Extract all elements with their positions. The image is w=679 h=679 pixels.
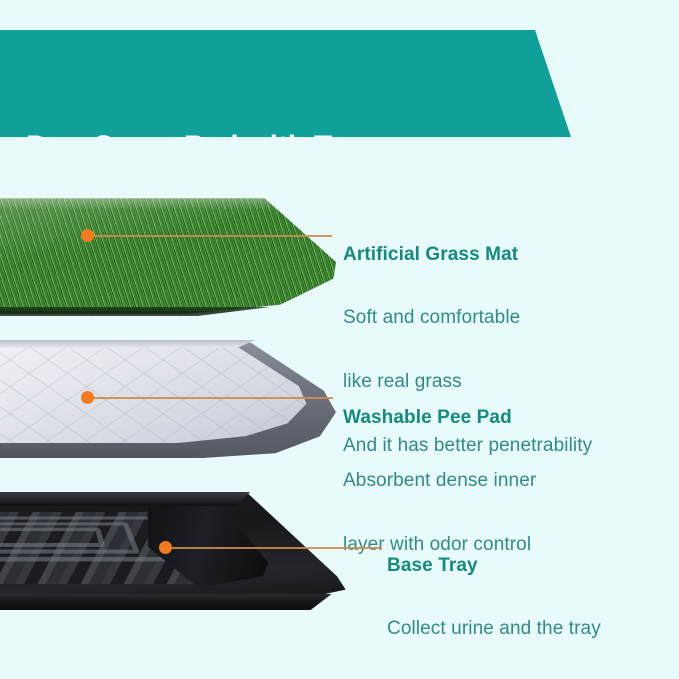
base-tray-image [0, 490, 350, 610]
grass-mat-backing [0, 307, 270, 316]
feature-title-grass-mat: Artificial Grass Mat [343, 242, 592, 268]
callout-dot-grass-mat [81, 229, 94, 242]
header-line-1: Dog Grass Pad with Tray [26, 125, 393, 168]
grass-mat-highlight [0, 196, 336, 210]
feature-label-base-tray: Base Tray Collect urine and the tray isc… [387, 517, 601, 679]
callout-line-pee-pad [92, 397, 333, 399]
feature-title-pee-pad: Washable Pee Pad [343, 405, 536, 431]
callout-line-base-tray [170, 547, 382, 549]
feature-title-base-tray: Base Tray [387, 553, 601, 579]
pee-pad-top-edge [0, 340, 256, 348]
feature-text-base-tray-1: Collect urine and the tray [387, 615, 601, 643]
callout-dot-base-tray [159, 541, 172, 554]
feature-text-pee-pad-1: Absorbent dense inner [343, 467, 536, 495]
feature-text-grass-mat-1: Soft and comfortable [343, 304, 592, 332]
callout-line-grass-mat [92, 235, 332, 237]
product-infographic: Dog Grass Pad with Tray Dog Training Goo… [0, 0, 679, 679]
base-tray-rim [0, 492, 250, 506]
base-tray-foot [0, 594, 340, 610]
header-banner: Dog Grass Pad with Tray Dog Training Goo… [0, 30, 575, 137]
grass-mat-image [0, 196, 336, 314]
grass-mat-surface [0, 196, 336, 314]
callout-dot-pee-pad [81, 391, 94, 404]
